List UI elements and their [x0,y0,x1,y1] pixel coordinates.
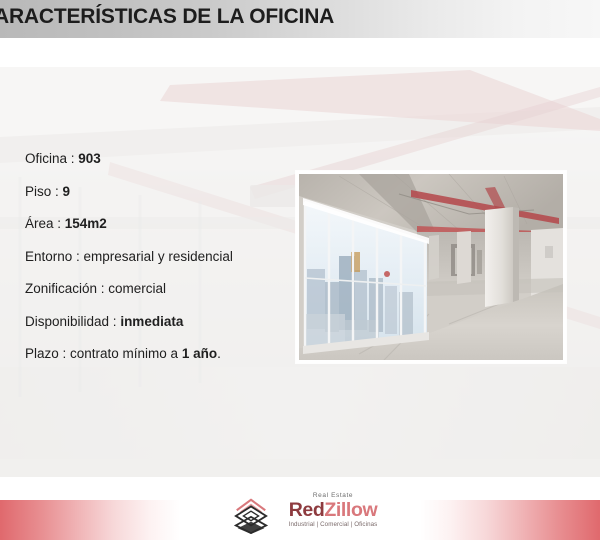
detail-value-plazo: 1 año [182,346,217,361]
detail-row-plazo: Plazo : contrato mínimo a 1 año. [25,347,300,361]
detail-label-area: Área : [25,216,65,231]
detail-label-oficina: Oficina : [25,151,78,166]
detail-label-entorno: Entorno : [25,249,84,264]
office-photo-inset [296,171,566,363]
detail-label-disponibilidad: Disponibilidad : [25,314,120,329]
detail-label-zonificacion: Zonificación : [25,281,108,296]
detail-row-area: Área : 154m2 [25,217,300,231]
logo-text-block: Real Estate RedZillow Industrial | Comer… [274,493,392,528]
detail-label-piso: Piso : [25,184,63,199]
detail-row-oficina: Oficina : 903 [25,152,300,166]
detail-row-zonificacion: Zonificación : comercial [25,282,300,296]
page-title: ARACTERÍSTICAS DE LA OFICINA [0,5,334,29]
detail-row-piso: Piso : 9 [25,185,300,199]
detail-value-oficina: 903 [78,151,101,166]
detail-suffix-plazo: . [217,346,221,361]
office-photo-frame [299,174,563,360]
logo-wordmark-zillow: Zillow [324,499,377,521]
stacked-diamond-icon [232,496,270,534]
detail-value-area: 154m2 [65,216,107,231]
detail-label-plazo: Plazo : contrato mínimo a [25,346,182,361]
detail-value-disponibilidad: inmediata [120,314,183,329]
detail-value-entorno: empresarial y residencial [84,249,233,264]
office-photo-image [299,174,563,360]
redzillow-logo: Real Estate RedZillow Industrial | Comer… [228,492,388,536]
slide-canvas: ARACTERÍSTICAS DE LA OFICINA Oficina : 9… [0,0,600,540]
office-details-list: Oficina : 903 Piso : 9 Área : 154m2 Ento… [25,152,300,380]
logo-wordmark: RedZillow [274,501,392,521]
detail-row-entorno: Entorno : empresarial y residencial [25,250,300,264]
logo-subtitle: Industrial | Comercial | Oficinas [274,522,392,528]
logo-wordmark-red: Red [289,499,325,521]
detail-value-piso: 9 [63,184,71,199]
detail-row-disponibilidad: Disponibilidad : inmediata [25,315,300,329]
detail-value-zonificacion: comercial [108,281,166,296]
